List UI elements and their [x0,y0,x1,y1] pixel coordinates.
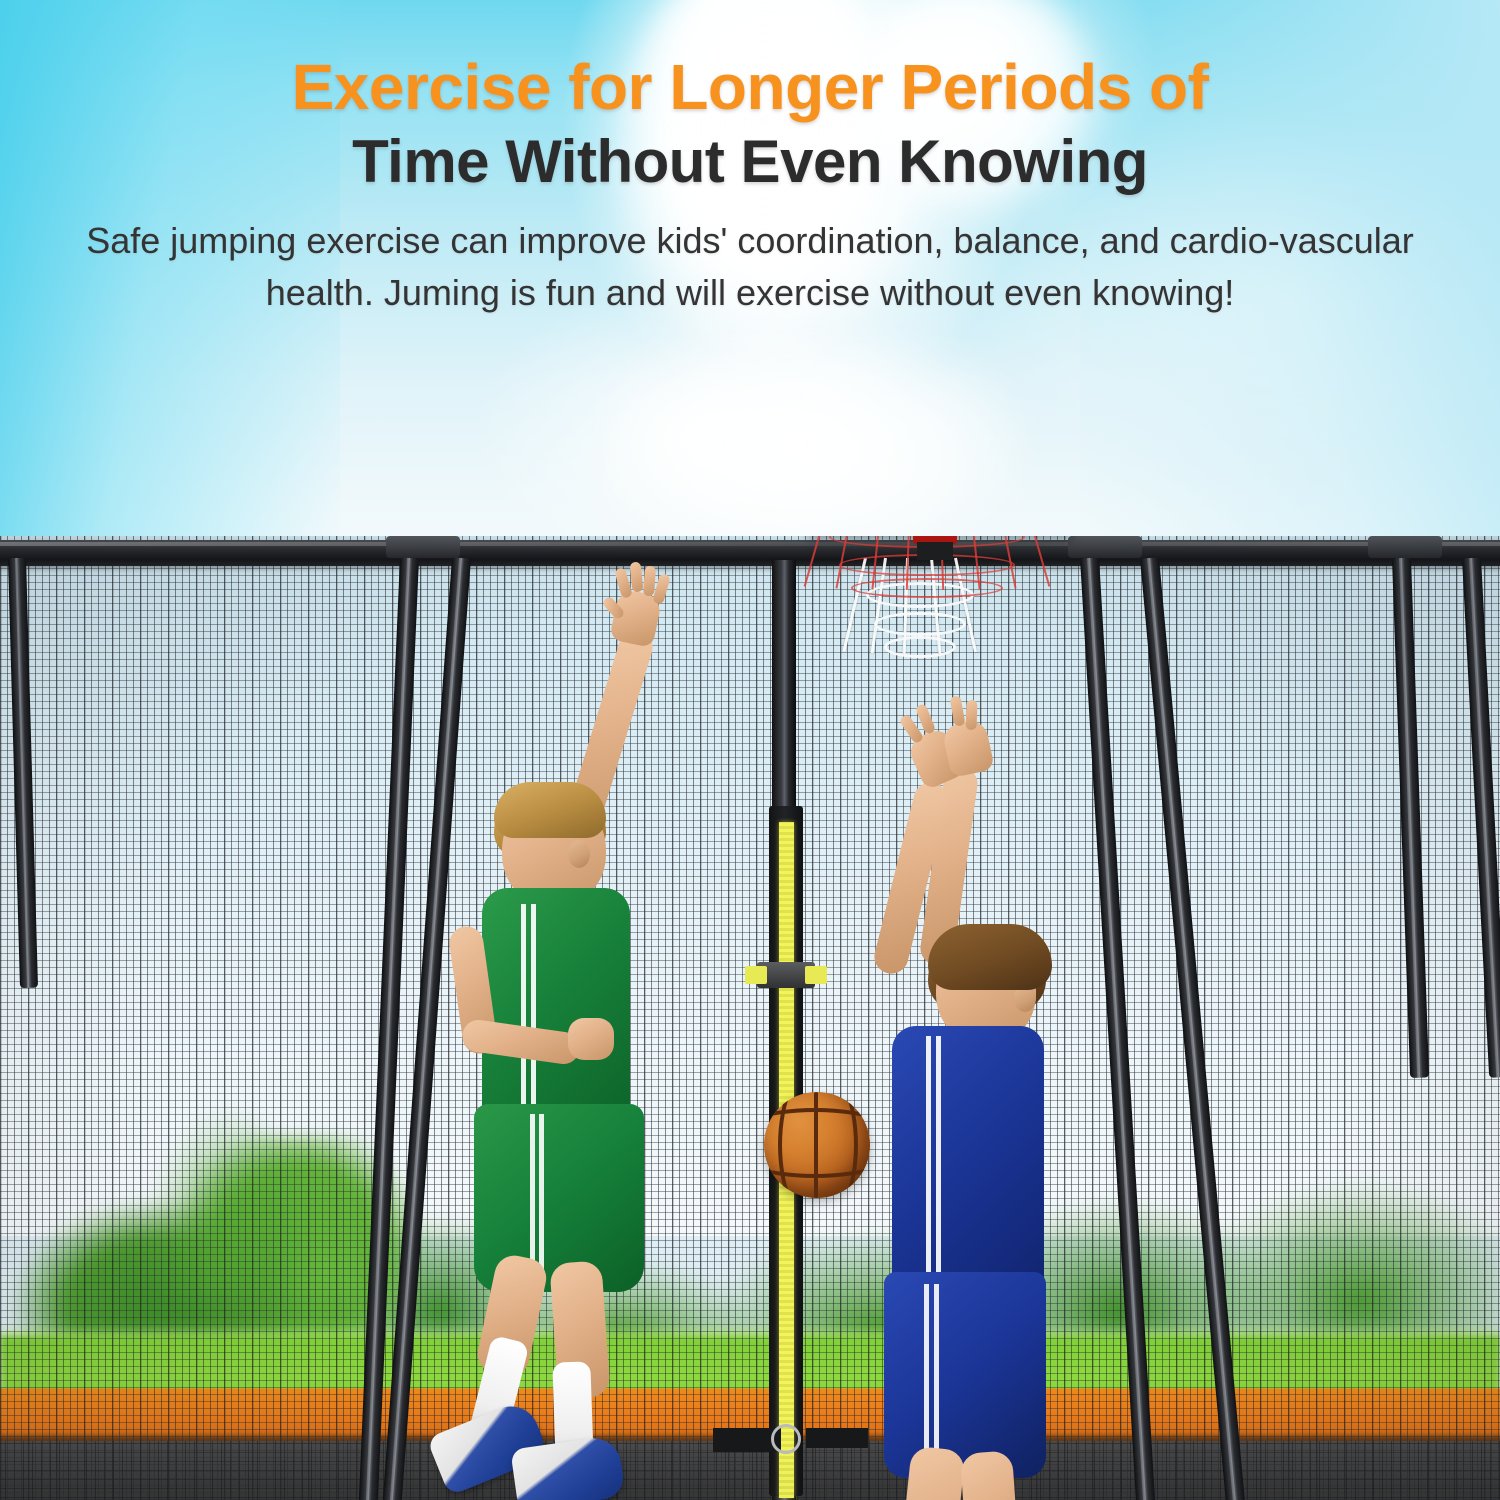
ball-seam [764,1108,870,1178]
rail-connector [1368,536,1442,558]
zipper-tab-right[interactable] [805,966,827,984]
rail-connector [1068,536,1142,558]
product-banner: Exercise for Longer Periods of Time With… [0,0,1500,1500]
finger [965,700,977,730]
jersey-stripes [926,1036,950,1294]
hair-top [494,782,606,838]
ear [568,840,590,868]
net-ring [851,578,1003,598]
rim-mount-post [917,542,953,560]
basketball-hoop-assembly [805,536,1075,576]
rail-connector [386,536,460,558]
background-trees-secondary [0,1096,1500,1296]
net-ring [874,612,966,636]
banner-description: Safe jumping exercise can improve kids' … [50,215,1450,317]
shorts [884,1272,1046,1478]
child-blue-jersey [828,736,1108,1500]
top-frame-rail-highlight [0,542,1500,546]
net-ring [884,636,956,658]
hair-top [928,924,1052,990]
banner-text-block: Exercise for Longer Periods of Time With… [0,0,1500,318]
jersey-stripes [521,904,543,1130]
child-green-jersey [418,626,708,1436]
product-photo [0,536,1500,1500]
headline-primary: Exercise for Longer Periods of [0,54,1500,122]
hand [568,1018,614,1060]
zipper-tab-left[interactable] [745,966,767,984]
headline-secondary: Time Without Even Knowing [0,130,1500,194]
jersey [482,888,630,1130]
jersey [892,1026,1044,1296]
basketball [764,1092,870,1198]
clip-ring [771,1424,801,1454]
cloud-shape [600,330,1020,560]
